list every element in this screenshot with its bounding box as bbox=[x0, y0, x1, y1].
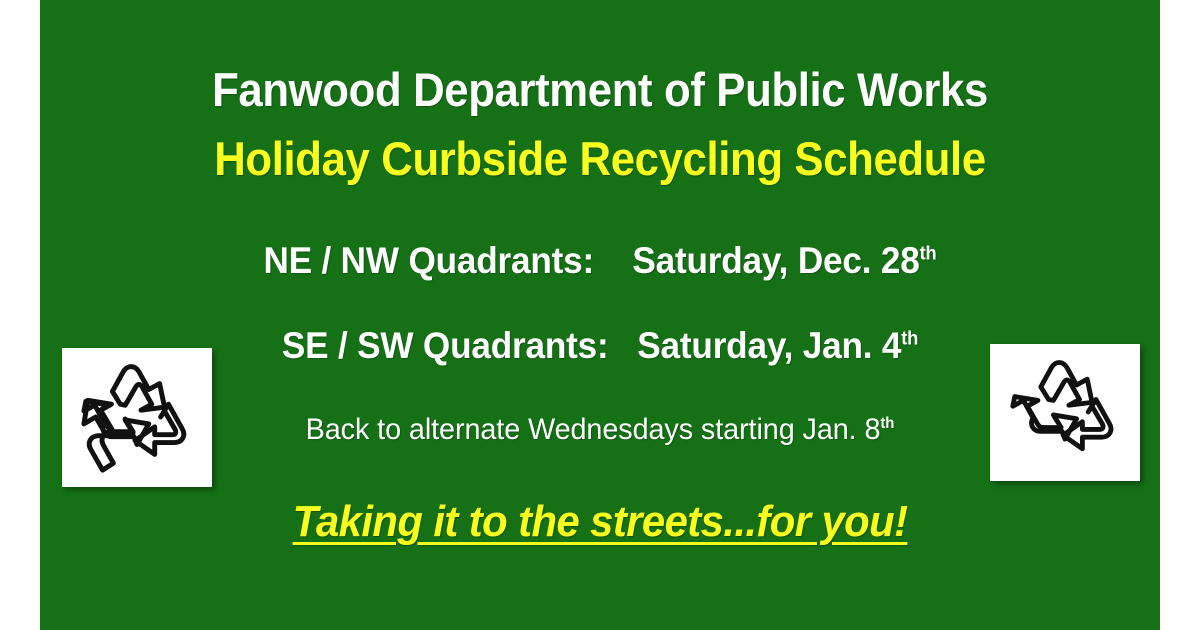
poster: Fanwood Department of Public Works Holid… bbox=[0, 0, 1200, 630]
schedule-row-se-sw: SE / SW Quadrants: Saturday, Jan. 4th bbox=[68, 325, 1132, 367]
schedule-date-ordinal: th bbox=[901, 329, 918, 350]
schedule-date-ordinal: th bbox=[920, 244, 937, 265]
schedule-quadrants-label: SE / SW Quadrants: bbox=[282, 325, 609, 366]
schedule-row-ne-nw: NE / NW Quadrants: Saturday, Dec. 28th bbox=[68, 240, 1132, 282]
resume-schedule-note-text: Back to alternate Wednesdays starting Ja… bbox=[306, 413, 881, 446]
schedule-date: Saturday, Jan. 4 bbox=[637, 325, 901, 366]
schedule-quadrants-label: NE / NW Quadrants: bbox=[264, 240, 595, 281]
tagline: Taking it to the streets...for you! bbox=[68, 497, 1132, 547]
resume-schedule-note-ordinal: th bbox=[880, 415, 894, 432]
page-title: Fanwood Department of Public Works bbox=[79, 62, 1121, 117]
page-subtitle: Holiday Curbside Recycling Schedule bbox=[79, 131, 1121, 186]
schedule-date: Saturday, Dec. 28 bbox=[632, 240, 919, 281]
resume-schedule-note: Back to alternate Wednesdays starting Ja… bbox=[62, 413, 1137, 447]
poster-text-block: Fanwood Department of Public Works Holid… bbox=[40, 0, 1160, 630]
